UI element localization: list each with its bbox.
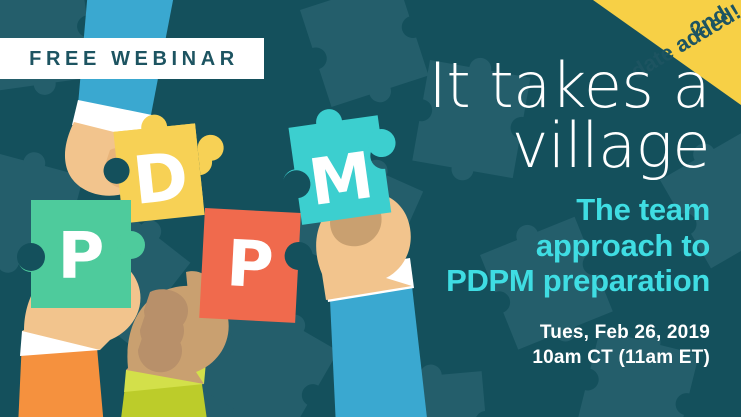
subheadline-line-2: approach to [290, 228, 710, 263]
svg-text:P: P [225, 227, 276, 303]
headline-line-1: It takes a [290, 56, 710, 116]
svg-text:D: D [129, 138, 192, 220]
webinar-date: Tues, Feb 26, 2019 [290, 320, 710, 345]
headline: It takes a village [290, 56, 710, 176]
promo-text-block: It takes a village The team approach to … [290, 56, 710, 370]
free-webinar-label: FREE WEBINAR [25, 49, 239, 69]
headline-line-2: village [290, 116, 710, 176]
webinar-time: 10am CT (11am ET) [290, 345, 710, 370]
webinar-promo-banner: D P P [0, 0, 741, 417]
free-webinar-badge: FREE WEBINAR [0, 38, 264, 79]
svg-text:P: P [58, 220, 105, 294]
green-piece-p: P [17, 200, 145, 308]
subheadline-line-1: The team [290, 192, 710, 227]
subheadline-line-3: PDPM preparation [290, 263, 710, 298]
webinar-datetime: Tues, Feb 26, 2019 10am CT (11am ET) [290, 320, 710, 370]
subheadline: The team approach to PDPM preparation [290, 192, 710, 298]
